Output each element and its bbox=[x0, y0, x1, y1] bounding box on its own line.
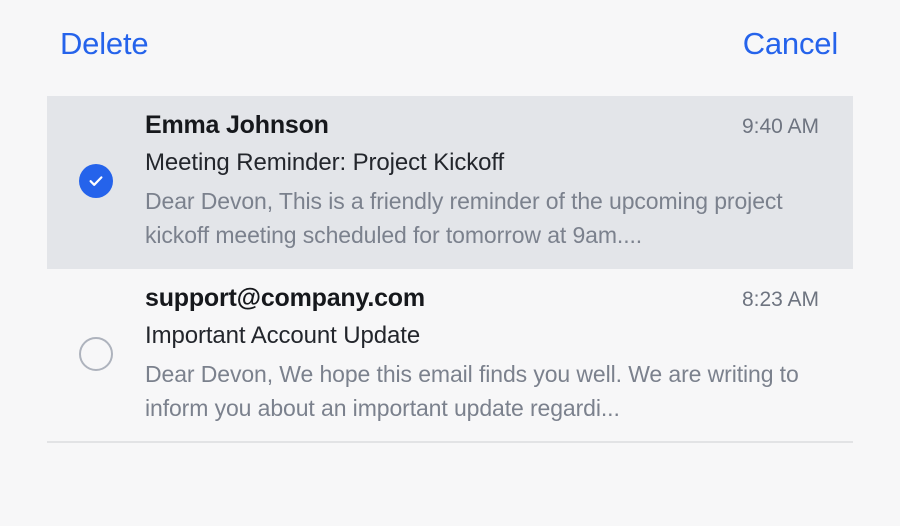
circle-outline-icon[interactable] bbox=[79, 337, 113, 371]
email-sender: Emma Johnson bbox=[145, 110, 329, 141]
email-preview: Dear Devon, This is a friendly reminder … bbox=[145, 184, 800, 252]
check-circle-filled-icon[interactable] bbox=[79, 164, 113, 198]
email-content: support@company.com 8:23 AM Important Ac… bbox=[145, 283, 819, 426]
cancel-button[interactable]: Cancel bbox=[743, 28, 838, 59]
email-list-item[interactable]: support@company.com 8:23 AM Important Ac… bbox=[47, 269, 853, 442]
delete-button[interactable]: Delete bbox=[60, 28, 148, 59]
email-select-checkbox[interactable] bbox=[47, 164, 145, 198]
email-timestamp: 8:23 AM bbox=[726, 287, 819, 313]
list-divider bbox=[47, 441, 853, 443]
email-subject: Important Account Update bbox=[145, 320, 819, 351]
email-header-row: support@company.com 8:23 AM bbox=[145, 283, 819, 314]
email-list: Emma Johnson 9:40 AM Meeting Reminder: P… bbox=[0, 96, 900, 443]
email-preview: Dear Devon, We hope this email finds you… bbox=[145, 357, 800, 425]
email-subject: Meeting Reminder: Project Kickoff bbox=[145, 147, 819, 178]
email-list-item[interactable]: Emma Johnson 9:40 AM Meeting Reminder: P… bbox=[47, 96, 853, 269]
email-timestamp: 9:40 AM bbox=[726, 114, 819, 140]
action-bar: Delete Cancel bbox=[0, 0, 900, 86]
email-select-checkbox[interactable] bbox=[47, 337, 145, 371]
email-content: Emma Johnson 9:40 AM Meeting Reminder: P… bbox=[145, 110, 819, 253]
email-header-row: Emma Johnson 9:40 AM bbox=[145, 110, 819, 141]
email-sender: support@company.com bbox=[145, 283, 425, 314]
